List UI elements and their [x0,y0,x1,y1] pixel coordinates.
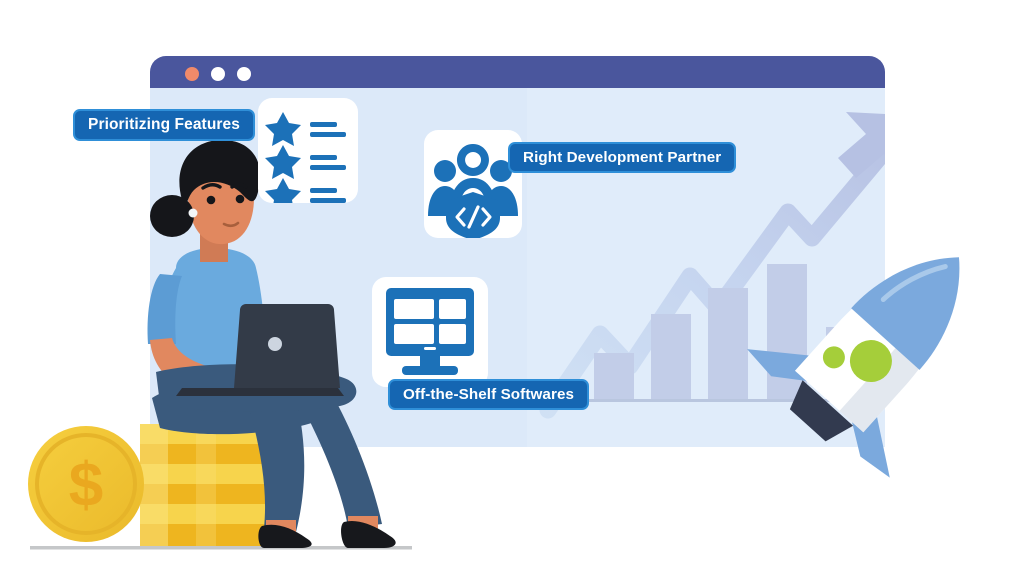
monitor-power-indicator [424,347,436,350]
illustration-canvas: $ [0,0,1024,576]
badge-right-development-partner[interactable]: Right Development Partner [508,142,736,173]
window-dot-maximize[interactable] [237,67,251,81]
monitor-neck [420,356,440,367]
desktop-dashboard-icon [372,277,488,387]
dashboard-panel-small-top [439,299,466,319]
monitor-frame [386,288,474,356]
coin-stack-column [140,424,268,546]
badge-label: Off-the-Shelf Softwares [403,386,574,403]
laptop-base [176,388,344,396]
gold-coin-stack: $ [28,424,268,546]
window-dot-close[interactable] [185,67,199,81]
badge-label: Prioritizing Features [88,116,240,134]
bar-1 [594,353,634,400]
person-eye-left [207,196,216,205]
team-member-head-center [457,144,489,176]
card-prioritizing-features [258,98,358,203]
dashboard-panel-large-top [394,299,434,319]
star-icon [265,178,301,203]
person-eye-right [236,195,245,204]
badge-prioritizing-features[interactable]: Prioritizing Features [73,109,255,141]
team-member-head-left [434,160,456,182]
dashboard-panel-small-bot [439,324,466,344]
person-shoe-front [341,521,396,548]
bar-2 [651,314,691,400]
browser-titlebar [150,56,885,88]
person-hair-bun [150,195,194,237]
illustration-svg: $ [0,0,1024,576]
window-dot-minimize[interactable] [211,67,225,81]
star-rating-list-icon [258,98,358,203]
list-line-short [310,155,337,160]
star-icon [265,112,301,146]
coin-dollar-symbol: $ [69,451,103,520]
laptop-lid [234,304,340,388]
card-off-the-shelf-softwares [372,277,488,387]
laptop-logo [268,337,282,351]
list-line-short [310,122,337,127]
list-line-long [310,198,346,203]
list-line-long [310,132,346,137]
list-line-short [310,188,337,193]
list-line-long [310,165,346,170]
bar-3 [708,288,748,400]
star-icon [265,145,301,179]
badge-off-the-shelf-softwares[interactable]: Off-the-Shelf Softwares [388,379,589,410]
monitor-stand [402,366,458,375]
dashboard-panel-large-bot [394,324,434,344]
badge-label: Right Development Partner [523,149,721,166]
person-earring [189,209,198,218]
person-shoe-back [258,525,311,548]
